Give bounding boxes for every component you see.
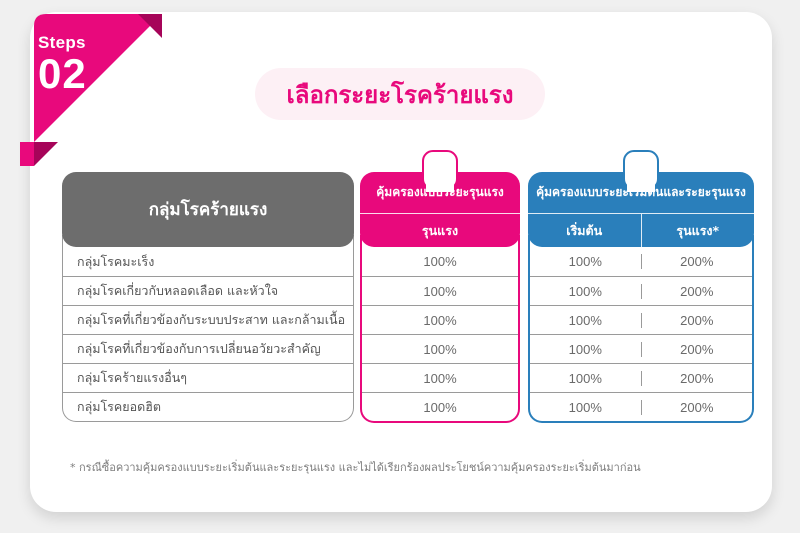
table-row: 100%200% [530,392,752,421]
severe-star-value-cell: 200% [641,313,753,328]
disease-group-label: กลุ่มโรคที่เกี่ยวข้องกับการเปลี่ยนอวัยวะ… [63,339,321,359]
table-row: กลุ่มโรคมะเร็ง [63,247,353,276]
severe-star-value-cell: 200% [641,371,753,386]
early-value-cell: 100% [530,400,641,415]
blue-notch-cover [627,182,655,192]
table-row: 100%200% [530,305,752,334]
disease-group-label: กลุ่มโรคร้ายแรงอื่นๆ [63,368,187,388]
table-row: 100%200% [530,363,752,392]
severe-star-value-cell: 200% [641,400,753,415]
table-row: 100% [362,363,518,392]
severe-coverage-subheader-row: รุนแรง [360,213,520,247]
severe-star-value-cell: 200% [641,342,753,357]
steps-ribbon: Steps 02 [10,12,185,172]
table-row: 100% [362,305,518,334]
disease-group-label: กลุ่มโรคยอดฮิต [63,397,161,417]
severe-subheader-label-0: รุนแรง [422,221,458,241]
page-title-banner: เลือกระยะโรคร้ายแรง [255,68,545,120]
ribbon-text-block: Steps 02 [38,34,87,95]
table-row: กลุ่มโรคที่เกี่ยวข้องกับระบบประสาท และกล… [63,305,353,334]
early-value-cell: 100% [530,342,641,357]
table-row: กลุ่มโรคเกี่ยวกับหลอดเลือด และหัวใจ [63,276,353,305]
early-severe-subheader-label-1: รุนแรง* [676,221,719,241]
benefit-table: กลุ่มโรคร้ายแรง กลุ่มโรคมะเร็งกลุ่มโรคเก… [62,150,754,445]
severe-value-cell: 100% [362,313,518,328]
severe-coverage-column: คุ้มครองแบบระยะรุนแรง รุนแรง 100%100%100… [360,172,520,423]
disease-group-column: กลุ่มโรคร้ายแรง กลุ่มโรคมะเร็งกลุ่มโรคเก… [62,172,354,422]
severe-star-value-cell: 200% [641,284,753,299]
pink-notch-cover [426,182,454,192]
pink-notch-tab [422,150,458,190]
table-row: 100% [362,334,518,363]
early-severe-subheader-1: รุนแรง* [641,214,755,247]
early-severe-coverage-rows: 100%200%100%200%100%200%100%200%100%200%… [528,235,754,423]
severe-value-cell: 100% [362,342,518,357]
severe-value-cell: 100% [362,284,518,299]
disease-group-rows: กลุ่มโรคมะเร็งกลุ่มโรคเกี่ยวกับหลอดเลือด… [62,235,354,422]
severe-star-value-cell: 200% [641,254,753,269]
ribbon-step-number: 02 [38,53,87,95]
early-severe-subheader-0: เริ่มต้น [528,214,641,247]
disease-group-label: กลุ่มโรคมะเร็ง [63,252,154,272]
page-title: เลือกระยะโรคร้ายแรง [287,75,514,114]
early-severe-coverage-header: คุ้มครองแบบระยะเริ่มต้นและระยะรุนแรง เริ… [528,172,754,247]
severe-value-cell: 100% [362,400,518,415]
table-row: 100%200% [530,334,752,363]
early-value-cell: 100% [530,254,641,269]
severe-value-cell: 100% [362,254,518,269]
table-row: กลุ่มโรคร้ายแรงอื่นๆ [63,363,353,392]
table-row: กลุ่มโรคที่เกี่ยวข้องกับการเปลี่ยนอวัยวะ… [63,334,353,363]
disease-group-label: กลุ่มโรคเกี่ยวกับหลอดเลือด และหัวใจ [63,281,278,301]
table-row: 100% [362,247,518,276]
severe-subheader-0: รุนแรง [360,214,520,247]
disease-group-label: กลุ่มโรคที่เกี่ยวข้องกับระบบประสาท และกล… [63,310,345,330]
footnote: * กรณีซื้อความคุ้มครองแบบระยะเริ่มต้นและ… [70,458,750,476]
table-row: 100%200% [530,247,752,276]
early-value-cell: 100% [530,284,641,299]
early-value-cell: 100% [530,371,641,386]
blue-notch-tab [623,150,659,190]
severe-coverage-header: คุ้มครองแบบระยะรุนแรง รุนแรง [360,172,520,247]
severe-coverage-rows: 100%100%100%100%100%100% [360,235,520,423]
table-row: กลุ่มโรคยอดฮิต [63,392,353,421]
severe-value-cell: 100% [362,371,518,386]
early-severe-coverage-subheader-row: เริ่มต้นรุนแรง* [528,213,754,247]
ribbon-shape [10,12,185,172]
early-value-cell: 100% [530,313,641,328]
table-row: 100%200% [530,276,752,305]
early-severe-coverage-column: คุ้มครองแบบระยะเริ่มต้นและระยะรุนแรง เริ… [528,172,754,423]
ribbon-steps-label: Steps [38,34,87,51]
early-severe-subheader-label-0: เริ่มต้น [566,221,602,241]
table-row: 100% [362,276,518,305]
table-row: 100% [362,392,518,421]
disease-group-header-label: กลุ่มโรคร้ายแรง [149,196,268,223]
disease-group-header: กลุ่มโรคร้ายแรง [62,172,354,247]
